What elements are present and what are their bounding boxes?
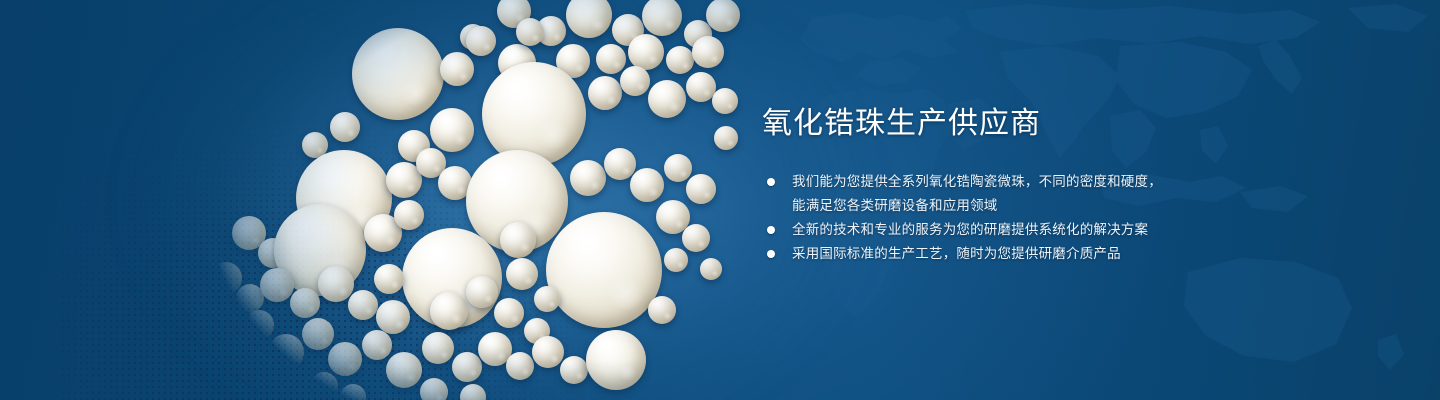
- page-title: 氧化锆珠生产供应商: [762, 106, 1232, 142]
- hero-banner: 氧化锆珠生产供应商 我们能为您提供全系列氧化锆陶瓷微珠，不同的密度和硬度， 能满…: [0, 0, 1440, 400]
- list-item: 我们能为您提供全系列氧化锆陶瓷微珠，不同的密度和硬度， 能满足您各类研磨设备和应…: [762, 170, 1232, 218]
- feature-text-line1: 我们能为您提供全系列氧化锆陶瓷微珠，不同的密度和硬度，: [792, 174, 1162, 189]
- feature-text-line1: 全新的技术和专业的服务为您的研磨提供系统化的解决方案: [792, 222, 1148, 237]
- bullet-dot-icon: [767, 178, 775, 186]
- list-item: 全新的技术和专业的服务为您的研磨提供系统化的解决方案: [762, 218, 1232, 242]
- bullet-dot-icon: [767, 250, 775, 258]
- zirconia-bead-cluster: [0, 0, 760, 400]
- feature-list: 我们能为您提供全系列氧化锆陶瓷微珠，不同的密度和硬度， 能满足您各类研磨设备和应…: [762, 170, 1232, 266]
- banner-copy: 氧化锆珠生产供应商 我们能为您提供全系列氧化锆陶瓷微珠，不同的密度和硬度， 能满…: [762, 106, 1232, 266]
- bullet-dot-icon: [767, 226, 775, 234]
- list-item: 采用国际标准的生产工艺，随时为您提供研磨介质产品: [762, 242, 1232, 266]
- feature-text-line2: 能满足您各类研磨设备和应用领域: [792, 194, 1232, 218]
- feature-text-line1: 采用国际标准的生产工艺，随时为您提供研磨介质产品: [792, 246, 1121, 261]
